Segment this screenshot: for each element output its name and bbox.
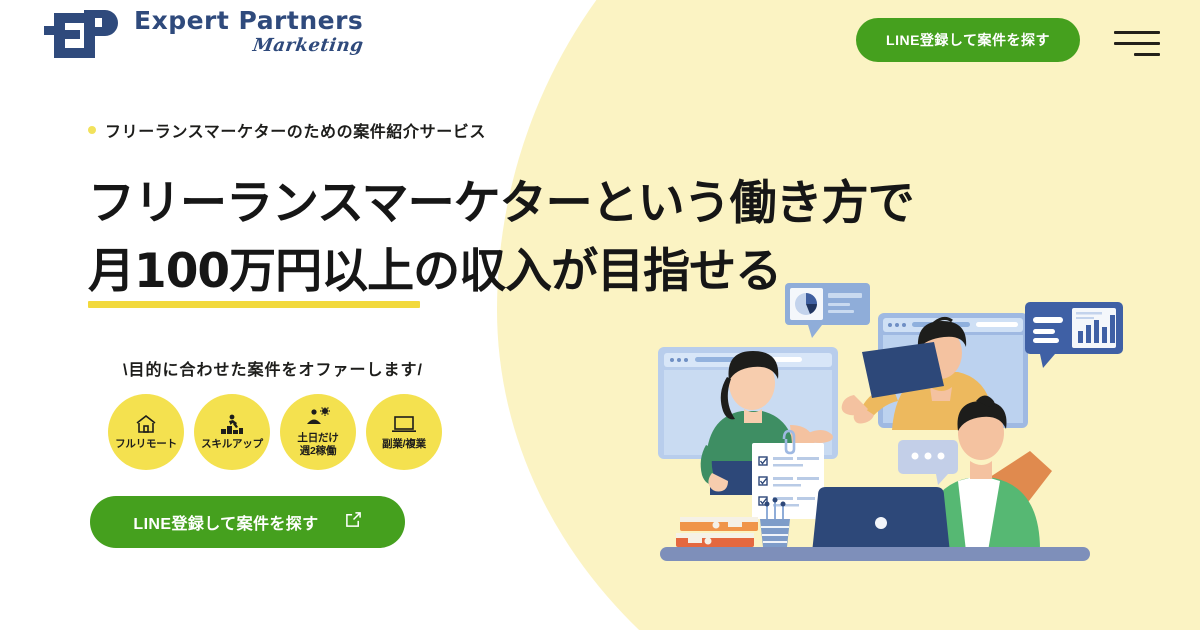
- bar-chart-speech-bubble: [1025, 302, 1123, 368]
- laptop: [812, 487, 950, 553]
- hero-eyebrow: フリーランスマーケターのための案件紹介サービス: [88, 118, 914, 142]
- menu-line-1: [1114, 31, 1160, 34]
- illustration-svg: [640, 265, 1140, 585]
- bullet-dot-icon: [88, 126, 96, 134]
- headline-underline: [88, 301, 420, 308]
- badge-label: 土日だけ週2稼働: [297, 432, 338, 458]
- ep-monogram-icon: [36, 8, 128, 64]
- main-line-cta-button[interactable]: LINE登録して案件を探す: [90, 496, 405, 548]
- beach-umbrella-icon: [305, 406, 331, 430]
- hero-copy: フリーランスマーケターのための案件紹介サービス フリーランスマーケターという働き…: [88, 118, 914, 306]
- badge-full-remote[interactable]: フルリモート: [108, 394, 184, 470]
- menu-line-3: [1134, 53, 1160, 56]
- badge-label: フルリモート: [115, 438, 177, 451]
- stairs-growth-icon: [220, 412, 244, 436]
- offer-title: \目的に合わせた案件をオファーします/: [108, 356, 438, 380]
- landing-page-hero: Expert Partners Marketing LINE登録して案件を探す …: [0, 0, 1200, 630]
- laptop-icon: [391, 412, 417, 436]
- brand-name: Expert Partners: [134, 8, 363, 34]
- header-line-cta-button[interactable]: LINE登録して案件を探す: [856, 18, 1080, 62]
- desk-surface: [660, 547, 1090, 561]
- badge-label: スキルアップ: [201, 438, 263, 451]
- headline-line-2: 月100万円以上の収入が目指せる: [88, 238, 781, 306]
- chat-dots-bubble: [898, 440, 958, 485]
- menu-line-2: [1114, 42, 1160, 45]
- external-link-icon: [345, 511, 362, 533]
- site-header: Expert Partners Marketing LINE登録して案件を探す: [0, 0, 1200, 88]
- hamburger-menu-icon[interactable]: [1114, 26, 1160, 60]
- hero-illustration: [640, 265, 1140, 585]
- badge-weekend-only[interactable]: 土日だけ週2稼働: [280, 394, 356, 470]
- checklist-document: [752, 431, 824, 519]
- offer-badges: フルリモート スキルアップ: [108, 394, 442, 470]
- hero-eyebrow-text: フリーランスマーケターのための案件紹介サービス: [105, 118, 486, 142]
- books-stack: [676, 517, 758, 547]
- headline-line-1: フリーランスマーケターという働き方で: [88, 170, 914, 238]
- cta-label: LINE登録して案件を探す: [133, 510, 318, 534]
- badge-side-job[interactable]: 副業/複業: [366, 394, 442, 470]
- badge-label: 副業/複業: [382, 438, 426, 451]
- hero-headline: フリーランスマーケターという働き方で 月100万円以上の収入が目指せる: [88, 170, 914, 306]
- brand-logo[interactable]: Expert Partners Marketing: [36, 8, 363, 64]
- offer-section: \目的に合わせた案件をオファーします/ フルリモート: [108, 356, 442, 470]
- badge-skill-up[interactable]: スキルアップ: [194, 394, 270, 470]
- home-icon: [135, 412, 157, 436]
- brand-subtitle: Marketing: [133, 35, 365, 56]
